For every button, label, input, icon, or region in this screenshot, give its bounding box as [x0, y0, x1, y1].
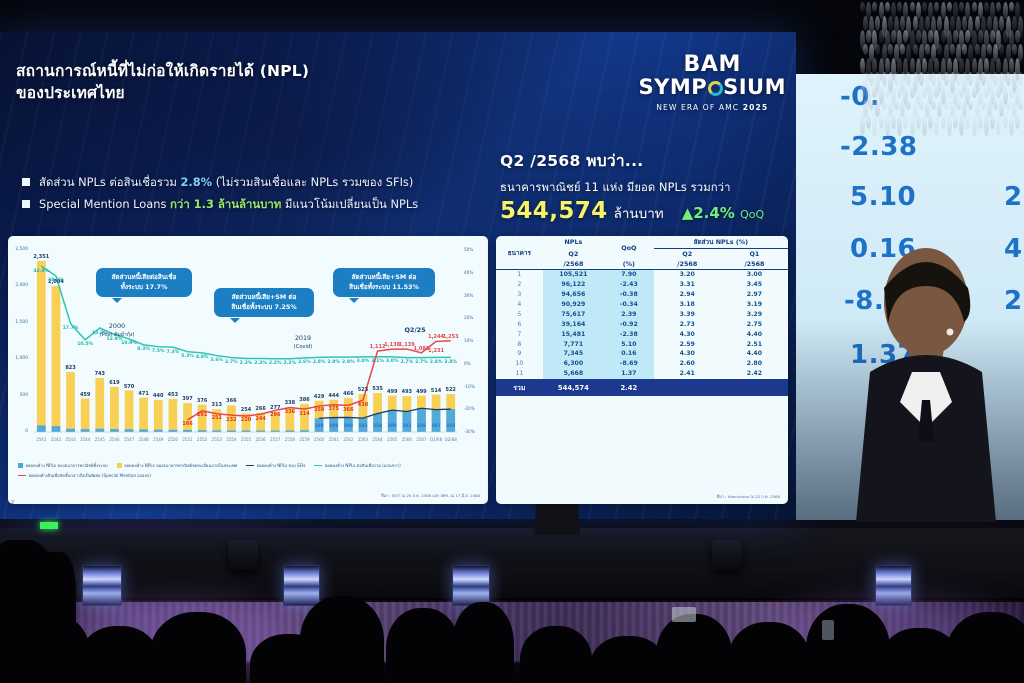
y2-axis-tick: -30% [464, 429, 480, 434]
chandelier-bead [947, 2, 952, 12]
chandelier-bead [965, 114, 970, 129]
sml-value-label: 166 [175, 421, 201, 427]
chart-legend: ยอดคงค้าง NPLs ของธนาคารพาณิชย์ทั้งระบบย… [18, 462, 480, 482]
y2-axis-tick: 0% [464, 361, 480, 366]
chandelier-bead [956, 100, 961, 110]
callout-1-line1: สัดส่วนหนี้เสียต่อสินเชื่อ [104, 273, 184, 283]
bar-value-label: 366 [217, 398, 245, 404]
bullet-square-icon [22, 178, 30, 186]
table-row: 115,6681.372.412.42 [496, 369, 788, 379]
cell-idx: 9 [496, 349, 543, 359]
kpi-title: Q2 /2568 พบว่า... [500, 148, 786, 173]
chandelier-bead [978, 114, 983, 129]
chart-annotation-q225: Q2/25 [390, 326, 440, 334]
headline-line-2: ของประเทศไทย [16, 82, 486, 104]
cell-qoq: 7.90 [604, 270, 654, 280]
chandelier-bead [1003, 114, 1008, 129]
cell-q1: 4.40 [721, 349, 788, 359]
bar-value-label: 823 [57, 365, 85, 371]
chandelier-bead [882, 100, 887, 110]
pct-value-label: 17.7% [60, 326, 82, 331]
chandelier-bead [888, 16, 893, 31]
y-axis-tick: 500 [12, 393, 28, 398]
cell-idx: 3 [496, 290, 543, 300]
annotation-2000-sub: (Post ต้มยำกุ้ง) [100, 332, 135, 338]
moving-head-light [712, 540, 742, 570]
cell-q2: 2.41 [654, 369, 721, 379]
x-axis-tick: Q2/68 [440, 437, 462, 442]
chandelier-bead [987, 16, 992, 31]
legend-swatch [314, 465, 322, 467]
presenter-on-led-screen [846, 232, 1006, 522]
cell-qoq: -0.92 [604, 319, 654, 329]
chandelier-bead [875, 44, 880, 55]
chandelier-bead [950, 44, 955, 55]
audience-silhouette [590, 636, 666, 683]
table-row: 639,164-0.922.732.75 [496, 319, 788, 329]
chandelier-bead [916, 30, 921, 43]
slide-headline: สถานการณ์หนี้ที่ไม่ก่อให้เกิดรายได้ (NPL… [16, 60, 486, 104]
cell-q2: 2.94 [654, 290, 721, 300]
bar-value-label: 459 [71, 392, 99, 398]
chandelier-bead [981, 72, 986, 86]
chandelier-bead [919, 100, 924, 110]
chandelier-bead [922, 2, 927, 12]
chandelier-bead [903, 114, 908, 129]
chandelier-bead [972, 86, 977, 98]
chandelier-bead [959, 2, 964, 12]
cell-q2: 3.39 [654, 310, 721, 320]
cell-q1: 2.75 [721, 319, 788, 329]
bullet-2-highlight: กว่า 1.3 ล้านล้านบาท [170, 197, 281, 211]
chandelier-bead [975, 44, 980, 55]
y-axis-tick: 2,500 [12, 247, 28, 252]
chart-source-note: ที่มา : BOT ณ 20 ส.ค. 2568 และ สศช. ณ 17… [381, 493, 480, 499]
callout-2-line1: สัดส่วนหนี้เสีย+SM ต่อ [222, 293, 306, 303]
stage-edge [0, 598, 1024, 602]
chandelier-bead [879, 114, 884, 129]
chart-annotation-2019: 2019 (Covid) [273, 334, 333, 350]
chandelier-bead [999, 44, 1004, 55]
y-axis-tick: 1,500 [12, 320, 28, 325]
legend-item: ยอดคงค้าง NPLs ของธนาคารพาณิชย์จดทะเบียน… [117, 462, 237, 469]
audience-silhouette [78, 626, 160, 683]
chandelier-bead [885, 2, 890, 12]
chandelier-bead [888, 44, 893, 55]
pct-value-label: 10.9% [118, 341, 140, 346]
chandelier-bead [1018, 100, 1023, 110]
legend-item: ยอดคงค้าง NPLs ของธนาคารพาณิชย์ทั้งระบบ [18, 462, 108, 469]
cell-npl: 7,345 [543, 349, 604, 359]
chandelier-bead [906, 100, 911, 110]
cell-npl: 6,300 [543, 359, 604, 369]
chandelier-bead [934, 2, 939, 12]
legend-swatch [18, 463, 23, 468]
chandelier-bead [900, 16, 905, 31]
chandelier-bead [944, 100, 949, 110]
chandelier-bead [928, 30, 933, 43]
legend-swatch [246, 465, 254, 467]
chandelier-bead [897, 86, 902, 98]
th-q1-l2: /2568 [721, 259, 788, 270]
callout-1-line2: ทั้งระบบ 17.7% [104, 283, 184, 293]
audience-silhouette [728, 622, 810, 683]
cell-npl: 75,617 [543, 310, 604, 320]
chandelier-bead [891, 30, 896, 43]
kpi-delta: ▲2.4% QoQ [682, 204, 764, 222]
phone-screen [822, 620, 834, 640]
cell-npl: 39,164 [543, 319, 604, 329]
table-row: 575,6172.393.393.29 [496, 310, 788, 320]
y2-axis-tick: -10% [464, 384, 480, 389]
table-row: 97,3450.164.304.40 [496, 349, 788, 359]
chandelier-bead [950, 16, 955, 31]
callout-2-line2: สินเชื่อทั้งระบบ 7.25% [222, 303, 306, 313]
legend-swatch [18, 475, 26, 477]
cell-npl: 5,668 [543, 369, 604, 379]
chandelier-bead [860, 86, 865, 98]
cell-idx: 5 [496, 310, 543, 320]
chandelier-bead [910, 114, 915, 136]
chandelier-bead [972, 114, 977, 136]
chandelier-bead [860, 2, 865, 12]
chandelier-bead [1015, 114, 1020, 129]
table-row: 296,122-2.433.313.45 [496, 280, 788, 290]
th-bank: ธนาคาร [496, 236, 543, 270]
cell-npl: 96,122 [543, 280, 604, 290]
cell-qoq: 1.37 [604, 369, 654, 379]
cell-idx: 7 [496, 329, 543, 339]
chandelier-bead [869, 72, 874, 86]
chandelier-bead [978, 30, 983, 43]
chandelier-bead [1009, 2, 1014, 12]
cell-q1: 2.51 [721, 339, 788, 349]
sml-value-label: 366 [335, 407, 361, 413]
cell-npl: 15,481 [543, 329, 604, 339]
stage-footlight [82, 565, 122, 606]
logo-sium: SIUM [723, 75, 786, 99]
chandelier-bead [872, 2, 877, 12]
chandelier-bead [972, 2, 977, 12]
th-ratio-group: สัดส่วน NPLs (%) [654, 236, 788, 249]
chandelier-bead [990, 30, 995, 43]
tf-blank-2 [721, 379, 788, 397]
kpi-delta-label: QoQ [740, 208, 764, 221]
cell-idx: 2 [496, 280, 543, 290]
table-head: ธนาคาร NPLs QoQ สัดส่วน NPLs (%) Q2 Q2 Q… [496, 236, 788, 270]
sml-value-label: 1,253 [438, 334, 464, 340]
audience-silhouette [806, 604, 890, 683]
chandelier-bead [968, 100, 973, 110]
chart-callout-3: สัดส่วนหนี้เสีย+SM ต่อ สินเชื่อทั้งระบบ … [333, 268, 435, 297]
chandelier-bead [981, 100, 986, 110]
audience-silhouette [300, 596, 384, 683]
logo-tagline-a: NEW ERA OF AMC [656, 103, 743, 112]
cell-qoq: -0.38 [604, 290, 654, 300]
stage-footlight [283, 565, 320, 606]
chandelier-bead [894, 100, 899, 110]
chandelier-bead [1009, 114, 1014, 136]
cell-idx: 8 [496, 339, 543, 349]
cell-npl: 105,521 [543, 270, 604, 280]
annotation-q225-title: Q2/25 [390, 326, 440, 334]
th-npl-l3: /2568 [543, 259, 604, 270]
bar-value-label: 570 [115, 384, 143, 390]
chandelier-bead [1012, 44, 1017, 55]
chandelier-bead [1006, 100, 1011, 110]
chandelier-bead [975, 16, 980, 31]
table-row: 394,656-0.382.942.97 [496, 290, 788, 300]
chandelier-bead [947, 86, 952, 98]
cell-q1: 3.19 [721, 300, 788, 310]
y-axis-tick: 2,000 [12, 283, 28, 288]
cell-q1: 4.40 [721, 329, 788, 339]
pct-value-label: 38.6% [45, 278, 67, 283]
cell-q2: 3.18 [654, 300, 721, 310]
cell-npl: 7,771 [543, 339, 604, 349]
y-axis-tick: 0 [12, 429, 28, 434]
chandelier-bead [885, 86, 890, 98]
audience-silhouette [452, 602, 514, 683]
chandelier-bead [962, 16, 967, 31]
chandelier-bead [894, 72, 899, 86]
logo-symp: SYMP [638, 75, 707, 99]
table-source-note: ที่มา : Hoonvision ณ 22 ก.ค. 2568 [717, 494, 780, 500]
table-body: 1105,5217.903.203.00296,122-2.433.313.45… [496, 270, 788, 379]
cell-qoq: 5.10 [604, 339, 654, 349]
annotation-2019-title: 2019 [273, 334, 333, 342]
moving-head-light [228, 540, 258, 570]
chandelier-bead [863, 44, 868, 55]
th-q2-l2: /2568 [654, 259, 721, 270]
chandelier-bead [947, 114, 952, 136]
chandelier-bead [941, 30, 946, 43]
bam-symposium-logo: BAM SYMPSIUM NEW ERA OF AMC 2025 [638, 54, 786, 112]
chandelier-bead [990, 114, 995, 129]
chandelier-bead [897, 114, 902, 136]
chandelier-bead [885, 114, 890, 136]
logo-bam-text: BAM [638, 54, 786, 76]
cell-idx: 10 [496, 359, 543, 369]
chandelier-bead [944, 72, 949, 86]
main-projection-screen: สถานการณ์หนี้ที่ไม่ก่อให้เกิดรายได้ (NPL… [0, 32, 796, 519]
audience-silhouette [946, 612, 1024, 683]
chandelier-bead [872, 114, 877, 136]
bullet-1-pre: สัดส่วน NPLs ต่อสินเชื่อรวม [39, 175, 180, 189]
cell-idx: 4 [496, 300, 543, 310]
chandelier-bead [922, 86, 927, 98]
logo-tagline: NEW ERA OF AMC 2025 [638, 103, 786, 112]
legend-item: ยอดคงค้าง NPLs ของ SFIs [246, 462, 305, 469]
segment-value-label: 315 [439, 424, 463, 429]
chandelier-bead [900, 44, 905, 55]
chart-annotation-2000: 2000 (Post ต้มยำกุ้ง) [82, 322, 152, 339]
cell-qoq: -2.43 [604, 280, 654, 290]
th-npl-l1: NPLs [543, 236, 604, 249]
chandelier-bead [1015, 30, 1020, 43]
legend-swatch [117, 463, 122, 468]
cell-qoq: -0.34 [604, 300, 654, 310]
bullet-item: Special Mention Loans กว่า 1.3 ล้านล้านบ… [22, 197, 498, 212]
y2-axis-tick: 50% [464, 247, 480, 252]
y2-axis-tick: -20% [464, 406, 480, 411]
chandelier-bead [906, 72, 911, 86]
chandelier-bead [1006, 72, 1011, 86]
slide-bullet-list: สัดส่วน NPLs ต่อสินเชื่อรวม 2.8% (ไม่รวม… [22, 175, 498, 220]
cell-idx: 11 [496, 369, 543, 379]
table-row: 490,929-0.343.183.19 [496, 300, 788, 310]
cell-q1: 2.80 [721, 359, 788, 369]
chart-callout-1: สัดส่วนหนี้เสียต่อสินเชื่อ ทั้งระบบ 17.7… [96, 268, 192, 297]
chandelier-bead [891, 114, 896, 129]
legend-item: ยอดคงค้าง NPLs ต่อสินเชื่อรวม (แกนขวา) [314, 462, 400, 469]
tf-npl: 544,574 [543, 379, 604, 397]
callout-3-line1: สัดส่วนหนี้เสีย+SM ต่อ [341, 273, 427, 283]
logo-tagline-year: 2025 [743, 103, 769, 112]
pct-value-label: 2.8% [440, 360, 462, 365]
chandelier-bead [913, 16, 918, 31]
table-foot: รวม 544,574 2.42 [496, 379, 788, 397]
bullet-2-pre: Special Mention Loans [39, 197, 170, 211]
chandelier-bead [910, 86, 915, 98]
phone-screen [672, 607, 696, 622]
chandelier-bead [996, 114, 1001, 136]
chandelier-bead [919, 72, 924, 86]
table-row: 87,7715.102.592.51 [496, 339, 788, 349]
chandelier-bead [956, 72, 961, 86]
pct-value-label: 10.5% [74, 342, 96, 347]
npl-bank-table-card: ธนาคาร NPLs QoQ สัดส่วน NPLs (%) Q2 Q2 Q… [496, 236, 788, 504]
chandelier-bead [993, 100, 998, 110]
cell-qoq: -2.38 [604, 329, 654, 339]
cell-q1: 2.42 [721, 369, 788, 379]
th-q1-l1: Q1 [721, 249, 788, 260]
cell-q1: 3.00 [721, 270, 788, 280]
table-row: 106,300-8.692.602.80 [496, 359, 788, 369]
sml-extra-label: 1,231 [423, 348, 449, 354]
chandelier-bead [931, 100, 936, 110]
stage-floor [0, 528, 1024, 600]
chandelier-bead [869, 100, 874, 110]
cell-npl: 90,929 [543, 300, 604, 310]
sml-value-label: 438 [350, 402, 376, 408]
chandelier-bead [987, 44, 992, 55]
legend-label: ยอดคงค้างสินเชื่อจัดชั้นกล่าวถึงเป็นพิเศ… [29, 472, 151, 479]
chandelier-bead [941, 114, 946, 129]
chandelier-bead [1018, 72, 1023, 86]
chandelier-bead [984, 114, 989, 136]
bullet-square-icon [22, 200, 30, 208]
npl-bank-table: ธนาคาร NPLs QoQ สัดส่วน NPLs (%) Q2 Q2 Q… [496, 236, 788, 396]
cell-q2: 2.73 [654, 319, 721, 329]
cell-qoq: 0.16 [604, 349, 654, 359]
y2-axis-tick: 20% [464, 315, 480, 320]
chart-y-axis-label: (หน่วย : พันล้านบาท) [10, 500, 16, 504]
bullet-1-post: (ไม่รวมสินเชื่อและ NPLs รวมของ SFIs) [212, 175, 413, 189]
chandelier-bead [962, 44, 967, 55]
kpi-unit: ล้านบาท [614, 202, 664, 224]
chandelier-bead [993, 72, 998, 86]
npl-chart-card: 05001,0001,5002,0002,50050%40%30%20%10%0… [8, 236, 488, 504]
logo-symposium-text: SYMPSIUM [638, 76, 786, 100]
chandelier-bead [925, 44, 930, 55]
camera-operator-silhouette [28, 552, 76, 682]
audience-silhouette [150, 612, 246, 683]
bullet-1-highlight: 2.8% [180, 175, 212, 189]
conference-stage-photo: สถานการณ์หนี้ที่ไม่ก่อให้เกิดรายได้ (NPL… [0, 0, 1024, 683]
cell-q2: 4.30 [654, 329, 721, 339]
chandelier-bead [931, 72, 936, 86]
chandelier-bead [984, 2, 989, 12]
audience-silhouette [386, 608, 460, 683]
cell-q1: 3.45 [721, 280, 788, 290]
bullet-2-post: มีแนวโน้มเปลี่ยนเป็น NPLs [281, 197, 418, 211]
cell-idx: 6 [496, 319, 543, 329]
chandelier-bead [934, 114, 939, 136]
tf-label: รวม [496, 379, 543, 397]
chandelier-bead [863, 16, 868, 31]
chandelier-bead [866, 30, 871, 43]
chandelier-bead [928, 114, 933, 129]
chandelier-bead [925, 16, 930, 31]
table-row: 1105,5217.903.203.00 [496, 270, 788, 280]
cell-idx: 1 [496, 270, 543, 280]
cell-qoq: -8.69 [604, 359, 654, 369]
callout-3-line2: สินเชื่อทั้งระบบ 11.53% [341, 283, 427, 293]
chart-callout-2: สัดส่วนหนี้เสีย+SM ต่อ สินเชื่อทั้งระบบ … [214, 288, 314, 317]
chandelier-bead [882, 72, 887, 86]
headline-line-1: สถานการณ์หนี้ที่ไม่ก่อให้เกิดรายได้ (NPL… [16, 60, 486, 82]
legend-label: ยอดคงค้าง NPLs ของธนาคารพาณิชย์ทั้งระบบ [26, 462, 108, 469]
cell-npl: 94,656 [543, 290, 604, 300]
th-q2-l1: Q2 [654, 249, 721, 260]
tf-blank-1 [654, 379, 721, 397]
bullet-item: สัดส่วน NPLs ต่อสินเชื่อรวม 2.8% (ไม่รวม… [22, 175, 498, 190]
chandelier-bead [1012, 16, 1017, 31]
kpi-value: 544,574 [500, 198, 608, 224]
legend-label: ยอดคงค้าง NPLs ต่อสินเชื่อรวม (แกนขวา) [325, 462, 401, 469]
bar-value-label: 522 [437, 387, 465, 393]
chandelier-bead [996, 2, 1001, 12]
y2-axis-tick: 30% [464, 293, 480, 298]
chandelier-bead [959, 86, 964, 98]
bar-value-label: 743 [86, 371, 114, 377]
camera-tally-light [40, 522, 58, 529]
legend-item: ยอดคงค้างสินเชื่อจัดชั้นกล่าวถึงเป็นพิเศ… [18, 472, 151, 479]
cell-q1: 2.97 [721, 290, 788, 300]
tf-qoq: 2.42 [604, 379, 654, 397]
cell-q2: 3.31 [654, 280, 721, 290]
th-qoq-l1: QoQ [604, 236, 654, 259]
cell-q2: 2.60 [654, 359, 721, 369]
audience-silhouette [520, 626, 592, 683]
chandelier-bead [922, 114, 927, 136]
audience-silhouette [656, 614, 732, 683]
cell-q2: 3.20 [654, 270, 721, 280]
y2-axis-tick: 10% [464, 338, 480, 343]
chandelier [856, 0, 1024, 148]
chandelier-bead [1009, 86, 1014, 98]
cell-qoq: 2.39 [604, 310, 654, 320]
table-row: 715,481-2.384.304.40 [496, 329, 788, 339]
chandelier-bead [866, 114, 871, 129]
kpi-subtitle: ธนาคารพาณิชย์ 11 แห่ง มียอด NPLs รวมกว่า [500, 178, 786, 196]
annotation-2000-title: 2000 [82, 322, 152, 330]
stage-footlight [452, 565, 490, 606]
th-npl-l2: Q2 [543, 249, 604, 260]
chandelier-bead [910, 2, 915, 12]
chandelier-bead [968, 72, 973, 86]
